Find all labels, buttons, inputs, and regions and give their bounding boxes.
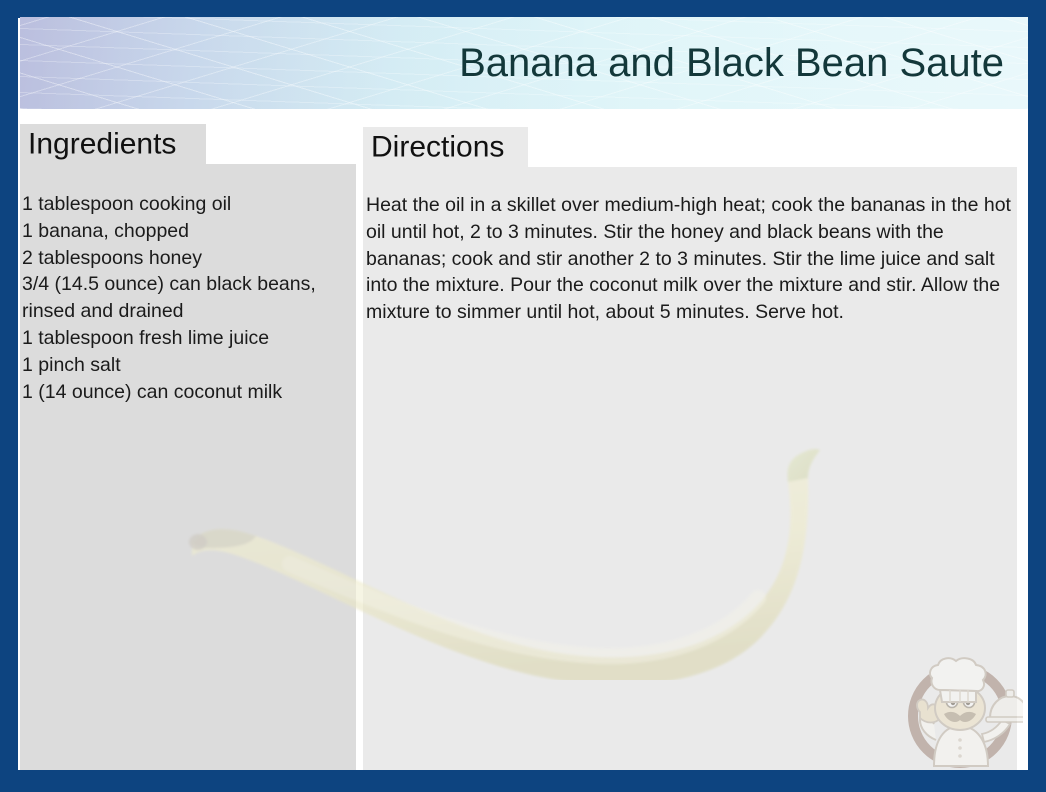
directions-heading: Directions — [371, 130, 504, 164]
ingredients-list: 1 tablespoon cooking oil 1 banana, chopp… — [22, 191, 352, 405]
frame-left-border — [0, 0, 18, 792]
directions-heading-tab: Directions — [363, 127, 528, 169]
frame-right-border — [1028, 0, 1046, 792]
recipe-slide: Banana and Black Bean Saute Ingredients … — [0, 0, 1046, 792]
directions-text: Heat the oil in a skillet over medium-hi… — [366, 192, 1014, 326]
frame-top-border — [0, 0, 1046, 18]
page-title: Banana and Black Bean Saute — [459, 43, 1004, 83]
ingredients-heading-tab: Ingredients — [20, 124, 206, 166]
header-banner: Banana and Black Bean Saute — [20, 17, 1028, 109]
ingredients-heading: Ingredients — [28, 127, 176, 161]
frame-bottom-border — [0, 770, 1046, 792]
